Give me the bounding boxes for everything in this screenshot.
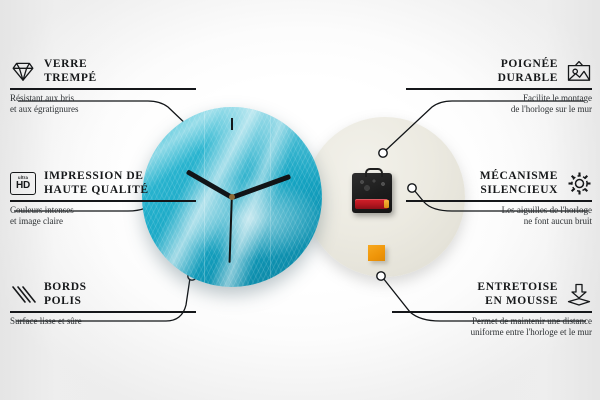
feature-divider	[10, 88, 196, 90]
feature-bords-polis: BORDS POLIS Surface lisse et sûre	[10, 281, 196, 327]
feature-divider	[392, 311, 592, 313]
feature-description: Les aiguilles de l'horloge ne font aucun…	[406, 205, 592, 228]
feature-verre-trempe: VERRE TREMPÉ Résistant aux bris et aux é…	[10, 58, 196, 116]
feature-entretoise-mousse: ENTRETOISE EN MOUSSE Permet de maintenir…	[392, 281, 592, 339]
feature-description: Permet de maintenir une distance uniform…	[392, 316, 592, 339]
battery	[355, 199, 388, 209]
feature-impression-haute-qualite: ultra HD IMPRESSION DE HAUTE QUALITÉ Cou…	[10, 170, 196, 228]
feature-title: IMPRESSION DE HAUTE QUALITÉ	[44, 170, 149, 197]
ultra-hd-badge-icon: ultra HD	[10, 172, 36, 196]
foam-spacer-arrow-icon	[566, 283, 592, 307]
picture-hanger-icon	[566, 60, 592, 84]
gear-icon	[566, 172, 592, 196]
hour-tick	[231, 118, 233, 130]
feature-header: ENTRETOISE EN MOUSSE	[392, 281, 592, 308]
diamond-icon	[10, 60, 36, 84]
feature-description: Facilite le montage de l'horloge sur le …	[406, 93, 592, 116]
foam-spacer	[368, 245, 385, 261]
feature-title: ENTRETOISE EN MOUSSE	[477, 281, 558, 308]
feature-header: ultra HD IMPRESSION DE HAUTE QUALITÉ	[10, 170, 196, 197]
feature-header: MÉCANISME SILENCIEUX	[406, 170, 592, 197]
battery-terminal-icon	[384, 200, 389, 208]
hands-center-cap	[229, 194, 235, 200]
clock-movement	[352, 173, 392, 213]
feature-header: BORDS POLIS	[10, 281, 196, 308]
feature-description: Résistant aux bris et aux égratignures	[10, 93, 196, 116]
movement-hanger-tab	[365, 168, 383, 177]
hd-badge-main-text: HD	[16, 181, 30, 191]
feature-header: VERRE TREMPÉ	[10, 58, 196, 85]
feature-title: BORDS POLIS	[44, 281, 87, 308]
feature-divider	[10, 311, 196, 313]
feature-title: MÉCANISME SILENCIEUX	[480, 170, 558, 197]
feature-poignee-durable: POIGNÉE DURABLE Facilite le montage de l…	[406, 58, 592, 116]
movement-detail	[356, 178, 388, 192]
feature-title: VERRE TREMPÉ	[44, 58, 97, 85]
feature-divider	[406, 88, 592, 90]
feature-divider	[10, 200, 196, 202]
infographic-canvas: VERRE TREMPÉ Résistant aux bris et aux é…	[0, 0, 600, 400]
feature-mecanisme-silencieux: MÉCANISME SILENCIEUX Les aiguilles de l'…	[406, 170, 592, 228]
feature-header: POIGNÉE DURABLE	[406, 58, 592, 85]
polished-edges-icon	[10, 283, 36, 307]
feature-divider	[406, 200, 592, 202]
feature-description: Surface lisse et sûre	[10, 316, 196, 328]
feature-description: Couleurs intenses et image claire	[10, 205, 196, 228]
feature-title: POIGNÉE DURABLE	[498, 58, 558, 85]
